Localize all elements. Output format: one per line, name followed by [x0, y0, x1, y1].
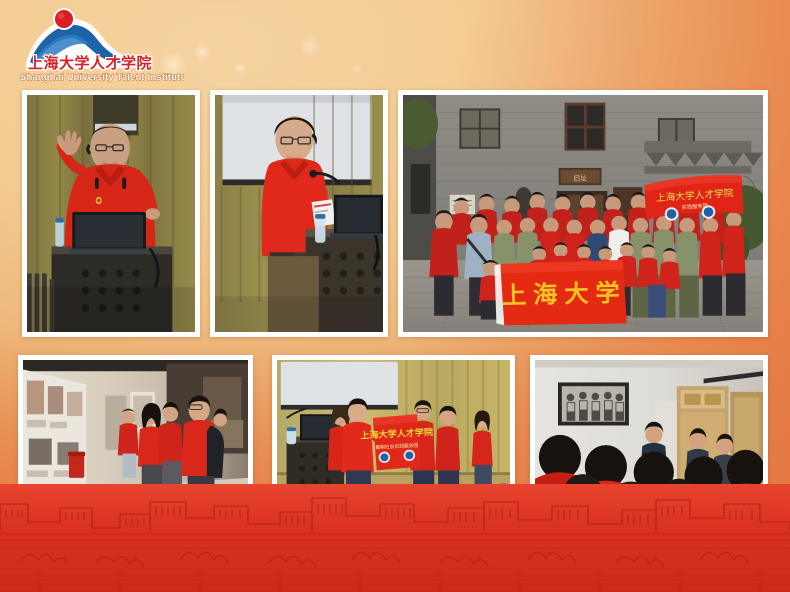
photo-speaker-student[interactable] [210, 90, 388, 337]
framed-historical-photo [558, 382, 629, 425]
photo-group-banner-image: 旧址 [403, 95, 763, 332]
svg-text:旧址: 旧址 [573, 173, 587, 182]
group-photo-banner: 上海大学 [494, 260, 626, 325]
photo-speaker-senior[interactable] [22, 90, 200, 337]
logo-chinese-text: 上海大学人才学院 [28, 54, 152, 72]
photo-speaker-student-image [215, 95, 383, 332]
logo: 上海大学人才学院 Shanghai University Talent Inst… [8, 4, 184, 84]
campus-skyline-silhouette [0, 484, 790, 592]
logo-english-text: Shanghai University Talent Institute [20, 71, 184, 82]
collage-page: 上海大学人才学院 Shanghai University Talent Inst… [0, 0, 790, 592]
banner-chinese-text: 上海大学 [502, 279, 627, 310]
photo-speaker-senior-image [27, 95, 195, 332]
photo-group-banner[interactable]: 旧址 [398, 90, 768, 337]
